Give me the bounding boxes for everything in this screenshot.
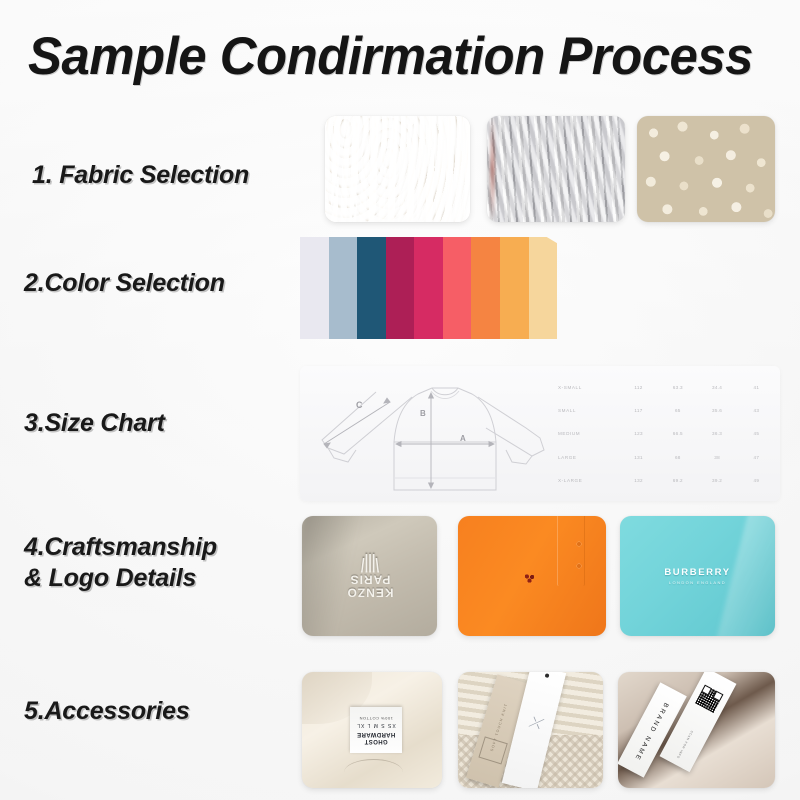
measure-cell: 117 <box>619 408 658 413</box>
cable-knit-texture <box>325 116 470 222</box>
accessory-photo-hang-tag-pair: SOFT TOUCH KNIT ⤫ <box>458 672 603 788</box>
measure-cell: 123 <box>619 431 658 436</box>
craft-photo-orange-polo-placket <box>458 516 606 636</box>
measure-cell: 43 <box>737 408 776 413</box>
aqua-tee-brand-print: BURBERRY LONDON ENGLAND <box>664 567 730 585</box>
polo-button-top <box>577 542 581 546</box>
table-row: SMALL 117 65 35.6 43 <box>558 408 776 413</box>
table-row: MEDIUM 123 66.5 36.3 45 <box>558 431 776 436</box>
measure-cell: 66.5 <box>658 431 697 436</box>
measure-cell: 34.4 <box>697 385 736 390</box>
color-swatch-coral-red <box>443 237 472 339</box>
measure-cell: 68 <box>658 455 697 460</box>
color-palette-card <box>300 237 557 339</box>
size-cell: X-LARGE <box>558 478 619 483</box>
boucle-texture <box>637 116 775 222</box>
size-cell: X-SMALL <box>558 385 619 390</box>
measure-cell: 38 <box>697 455 736 460</box>
page-title: Sample Condirmation Process <box>28 30 758 84</box>
poster-stage: Sample Condirmation Process 1. Fabric Se… <box>0 0 800 800</box>
cream-hoodie-backdrop: GHOST HARDWARE XS S M L XL 100% COTTON <box>302 672 442 788</box>
color-swatch-light-steel-blue <box>329 237 358 339</box>
tag-hole-icon <box>545 674 550 679</box>
signature-scribble-icon: ⤫ <box>527 714 543 733</box>
color-swatch-orange <box>471 237 500 339</box>
svg-text:B: B <box>420 409 426 418</box>
step-label-accessories: 5.Accessories <box>24 696 190 727</box>
wavy-rib-texture <box>487 116 625 222</box>
table-row: LARGE 131 68 38 47 <box>558 455 776 460</box>
table-row: X-SMALL 112 63.3 34.4 41 <box>558 385 776 390</box>
accessory-photo-care-label: GHOST HARDWARE XS S M L XL 100% COTTON <box>302 672 442 788</box>
knitwear-backdrop: SOFT TOUCH KNIT ⤫ <box>458 672 603 788</box>
accessory-photo-brand-hangtag-qr: BRAND NAME SCAN FOR INFO <box>618 672 775 788</box>
kenzo-rays-icon: \|||/ <box>346 555 393 575</box>
measure-cell: 131 <box>619 455 658 460</box>
size-chart-table: X-SMALL 112 63.3 34.4 41 SMALL 117 65 35… <box>558 372 780 496</box>
qr-tag-caption: SCAN FOR INFO <box>676 730 694 760</box>
measure-cell: 112 <box>619 385 658 390</box>
fabric-backdrop: BRAND NAME SCAN FOR INFO <box>618 672 775 788</box>
size-cell: LARGE <box>558 455 619 460</box>
brand-sub-line: LONDON ENGLAND <box>664 580 730 585</box>
embroidered-crest-icon <box>523 572 536 583</box>
measure-cell: 45 <box>737 431 776 436</box>
color-swatch-amber-orange <box>500 237 529 339</box>
polo-button-bottom <box>577 564 581 568</box>
step-label-fabric-selection: 1. Fabric Selection <box>32 160 249 191</box>
color-swatch-peach-cream <box>529 237 558 339</box>
svg-text:A: A <box>460 434 466 443</box>
grey-fabric-backdrop: KENZO PARIS \|||/ <box>302 516 437 636</box>
craft-photo-aqua-tee-brandmark: BURBERRY LONDON ENGLAND <box>620 516 775 636</box>
measure-cell: 41 <box>737 385 776 390</box>
brand-name-line: BURBERRY <box>664 567 730 578</box>
measure-cell: 49 <box>737 478 776 483</box>
measure-cell: 69.2 <box>658 478 697 483</box>
step-label-color-selection: 2.Color Selection <box>24 268 225 299</box>
kenzo-logo-embroidery: KENZO PARIS \|||/ <box>346 558 393 599</box>
care-label-composition: 100% COTTON <box>359 716 393 721</box>
aqua-tee-fabric: BURBERRY LONDON ENGLAND <box>620 516 775 636</box>
care-label-line2: HARDWARE <box>356 730 395 737</box>
measure-cell: 132 <box>619 478 658 483</box>
measure-cell: 63.3 <box>658 385 697 390</box>
measure-cell: 39.2 <box>697 478 736 483</box>
color-swatch-deep-teal-blue <box>357 237 386 339</box>
fabric-swatch-grey-wavy-rib <box>487 116 625 222</box>
craft-photo-kenzo-embroidered-logo: KENZO PARIS \|||/ <box>302 516 437 636</box>
table-row: X-LARGE 132 69.2 39.2 49 <box>558 478 776 483</box>
sweater-technical-sketch: A B C <box>300 366 562 501</box>
kenzo-line1: KENZO <box>346 586 393 600</box>
fabric-swatch-chunky-cable-knit <box>325 116 470 222</box>
size-chart-panel: A B C X-SMALL 112 63.3 34.4 41 SMALL 117… <box>300 366 780 501</box>
orange-polo-fabric <box>458 516 606 636</box>
color-swatch-crimson-magenta <box>386 237 415 339</box>
care-label-sizes: XS S M L XL <box>356 722 395 728</box>
care-label-line1: GHOST <box>364 737 387 744</box>
fabric-swatch-beige-boucle <box>637 116 775 222</box>
care-label-tag: GHOST HARDWARE XS S M L XL 100% COTTON <box>350 707 402 753</box>
size-cell: MEDIUM <box>558 431 619 436</box>
step-label-size-chart: 3.Size Chart <box>24 408 165 439</box>
qr-code-icon <box>695 684 723 712</box>
measure-cell: 65 <box>658 408 697 413</box>
color-swatch-pale-lilac-white <box>300 237 329 339</box>
step-label-craftsmanship-logo-details: 4.Craftsmanship & Logo Details <box>24 532 217 593</box>
measure-cell: 47 <box>737 455 776 460</box>
measure-cell: 35.6 <box>697 408 736 413</box>
color-swatch-raspberry-pink <box>414 237 443 339</box>
svg-text:C: C <box>356 400 363 410</box>
measure-cell: 36.3 <box>697 431 736 436</box>
size-cell: SMALL <box>558 408 619 413</box>
kraft-tag-box <box>479 736 508 764</box>
